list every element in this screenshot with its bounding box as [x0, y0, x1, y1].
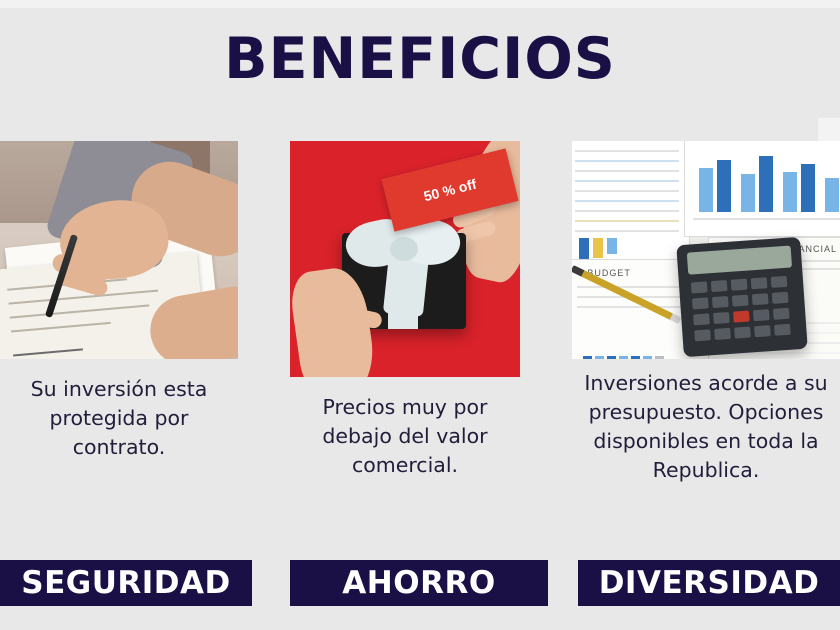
calculator-key: [714, 328, 731, 340]
photo3-calculator: [676, 237, 808, 357]
top-band: [0, 0, 840, 8]
calculator-budget-photo: Y BUDGET FINANCIAL: [572, 141, 840, 359]
photo3-bar: [699, 168, 713, 212]
photo3-bar: [655, 356, 664, 359]
benefit-column-seguridad: Su inversión esta protegida por contrato…: [0, 141, 238, 462]
slide-canvas: BENEFICIOS Su inversión esta protegi: [0, 0, 840, 630]
photo3-bar: [583, 356, 592, 359]
photo3-row: [575, 180, 679, 182]
benefit-caption: Su inversión esta protegida por contrato…: [0, 375, 238, 462]
calculator-display: [687, 245, 792, 274]
photo3-bar: [631, 356, 640, 359]
benefit-column-diversidad: Y BUDGET FINANCIAL: [572, 141, 840, 485]
photo1-signature-line: [13, 348, 83, 356]
photo1-text-line: [9, 290, 159, 305]
calculator-key: [692, 297, 709, 309]
calculator-key: [694, 329, 711, 341]
photo3-row: [575, 190, 679, 192]
calculator-key: [734, 327, 751, 339]
photo1-text-line: [11, 322, 111, 333]
photo3-row: [575, 210, 679, 212]
photo3-bar: [643, 356, 652, 359]
photo3-bar: [595, 356, 604, 359]
calculator-key: [773, 308, 790, 320]
page-title: BENEFICIOS: [0, 26, 840, 92]
photo3-bar: [825, 178, 839, 212]
calculator-key: [711, 280, 728, 292]
photo3-bar: [741, 174, 755, 212]
photo3-row: [575, 170, 679, 172]
photo3-bar: [783, 172, 797, 212]
photo3-row: [575, 160, 679, 162]
photo3-bar: [607, 356, 616, 359]
calculator-key: [713, 312, 730, 324]
calculator-key: [774, 324, 791, 336]
calculator-key: [772, 292, 789, 304]
calculator-key: [732, 295, 749, 307]
calculator-key: [771, 276, 788, 288]
photo3-row: [575, 150, 679, 152]
label-diversidad: DIVERSIDAD: [578, 560, 840, 606]
photo3-sheet: [684, 141, 840, 237]
calculator-key: [754, 325, 771, 337]
photo2-bow-knot: [390, 237, 418, 261]
contract-signing-photo: [0, 141, 238, 359]
calculator-key: [731, 279, 748, 291]
photo3-bar: [607, 238, 617, 254]
label-ahorro: AHORRO: [290, 560, 548, 606]
calculator-key: [712, 296, 729, 308]
label-seguridad: SEGURIDAD: [0, 560, 252, 606]
photo3-row: [575, 220, 679, 222]
photo3-bar: [619, 356, 628, 359]
photo3-sheet: [572, 141, 690, 267]
photo3-bar: [593, 238, 603, 258]
calculator-key: [753, 309, 770, 321]
benefit-column-ahorro: 50 % off Precios muy por debajo del valo…: [290, 141, 520, 480]
photo3-row: [575, 230, 679, 232]
calculator-key: [691, 281, 708, 293]
photo3-row: [575, 200, 679, 202]
benefit-caption: Precios muy por debajo del valor comerci…: [290, 393, 520, 480]
photo3-axis: [693, 218, 840, 220]
calculator-key: [752, 293, 769, 305]
gift-discount-photo: 50 % off: [290, 141, 520, 377]
calculator-key-red: [733, 311, 750, 323]
photo3-bar: [759, 156, 773, 212]
photo3-bar: [801, 164, 815, 212]
calculator-key: [751, 277, 768, 289]
photo3-bar: [717, 160, 731, 212]
calculator-key: [693, 313, 710, 325]
photo1-text-line: [10, 304, 150, 318]
benefit-caption: Inversiones acorde a su presupuesto. Opc…: [572, 369, 840, 485]
